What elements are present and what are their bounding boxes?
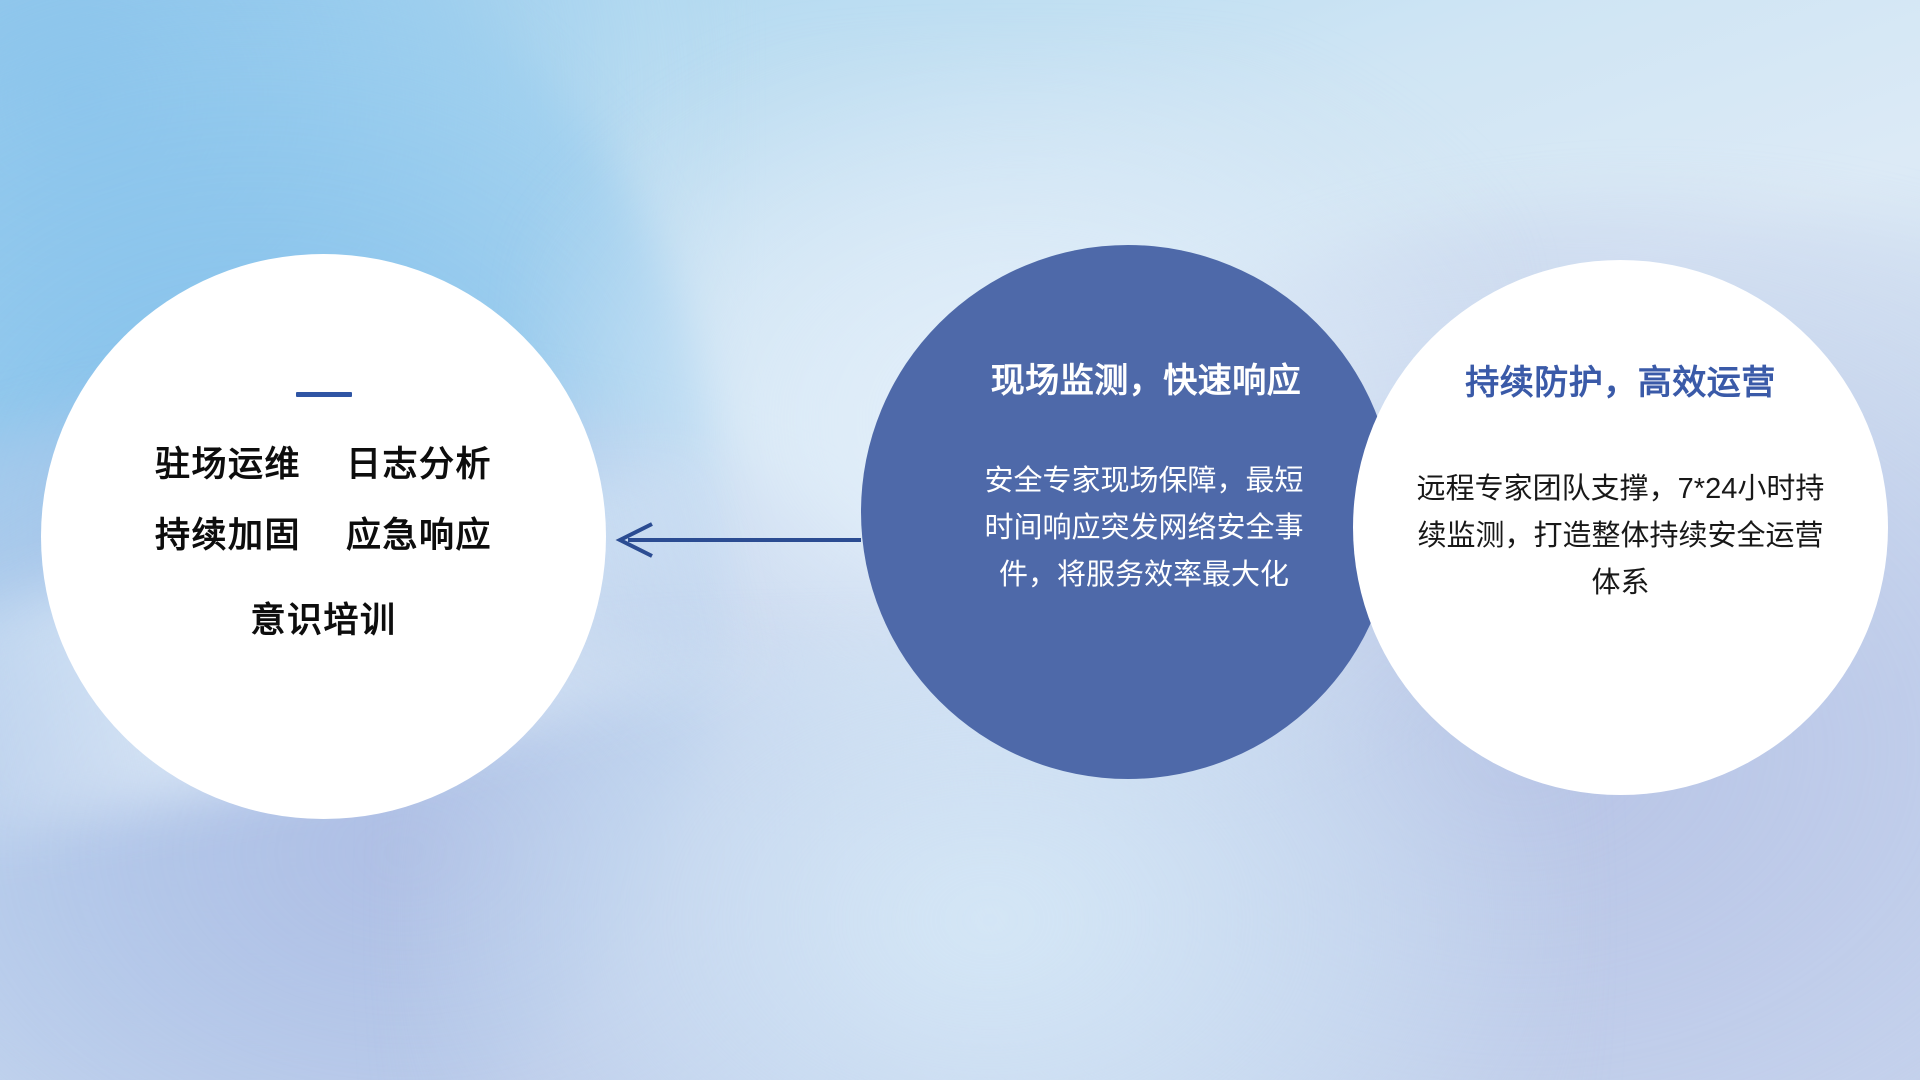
onsite-monitoring-body: 安全专家现场保障，最短时间响应突发网络安全事件，将服务效率最大化 bbox=[979, 458, 1309, 599]
accent-dash-divider bbox=[296, 392, 352, 397]
on-site-operations-line-3: 意识培训 bbox=[250, 603, 396, 638]
on-site-operations-line-1: 驻场运维 日志分析 bbox=[155, 447, 492, 482]
continuous-protection-title: 持续防护，高效运营 bbox=[1465, 355, 1776, 404]
continuous-protection-body: 远程专家团队支撑，7*24小时持续监测，打造整体持续安全运营体系 bbox=[1406, 466, 1836, 607]
onsite-monitoring-circle: 现场监测，快速响应 安全专家现场保障，最短时间响应突发网络安全事件，将服务效率最… bbox=[861, 245, 1395, 779]
diagram-canvas: 现场监测，快速响应 安全专家现场保障，最短时间响应突发网络安全事件，将服务效率最… bbox=[0, 0, 1920, 1080]
onsite-monitoring-title: 现场监测，快速响应 bbox=[991, 353, 1302, 402]
continuous-protection-circle: 持续防护，高效运营 远程专家团队支撑，7*24小时持续监测，打造整体持续安全运营… bbox=[1353, 260, 1888, 795]
on-site-operations-circle: 驻场运维 日志分析 持续加固 应急响应 意识培训 bbox=[41, 254, 606, 819]
on-site-operations-line-2: 持续加固 应急响应 bbox=[155, 518, 492, 553]
